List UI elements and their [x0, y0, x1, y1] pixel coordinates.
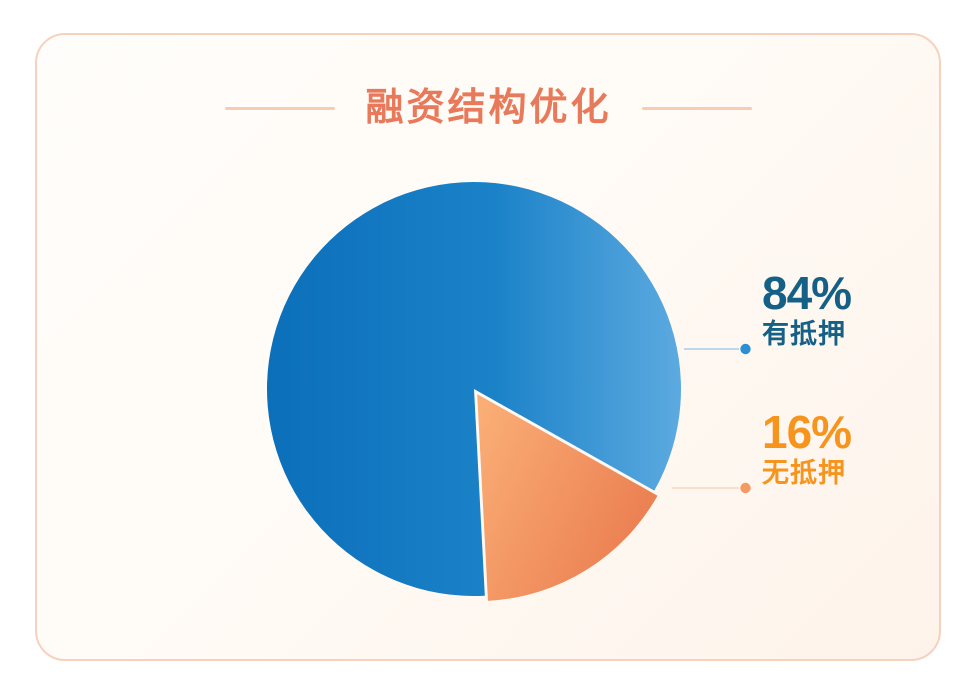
legend-label-0: 有抵押 — [762, 319, 952, 350]
title-rule-left — [225, 107, 335, 110]
page-title: 融资结构优化 — [365, 89, 611, 127]
legend-value-1: 16% — [762, 409, 952, 456]
legend-item-0[interactable]: 84% 有抵押 — [762, 270, 952, 350]
title-rule-right — [642, 107, 752, 110]
chart-title-block: 融资结构优化 — [0, 77, 977, 139]
legend-label-1: 无抵押 — [762, 458, 952, 489]
legend-value-0: 84% — [762, 270, 952, 317]
legend-item-1[interactable]: 16% 无抵押 — [762, 409, 952, 489]
chart-canvas: 融资结构优化 84% 有抵押 16% 无 — [0, 0, 977, 697]
